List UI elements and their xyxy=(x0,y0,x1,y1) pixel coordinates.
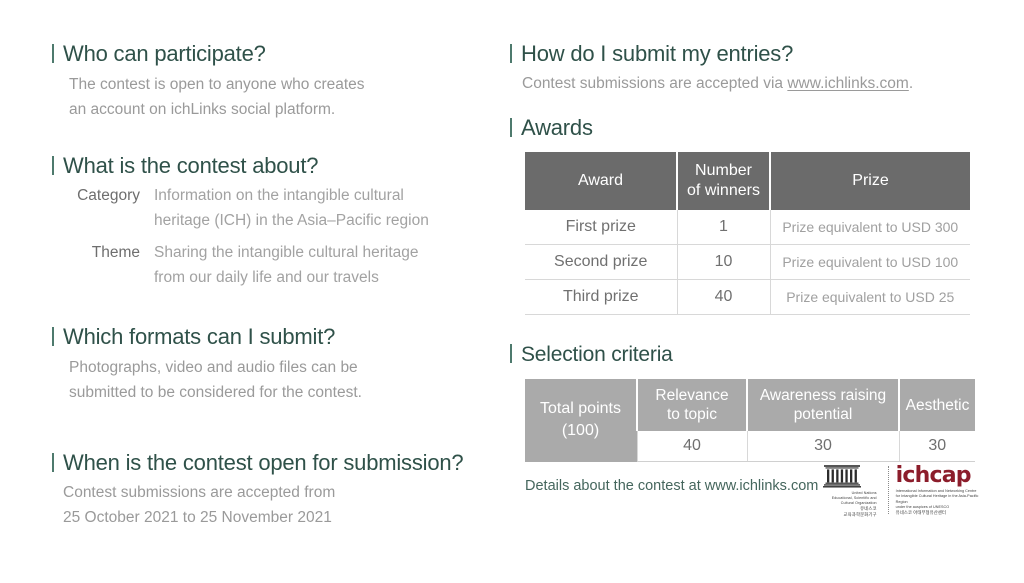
column-header-number-of-winners: Number of winners xyxy=(677,152,770,210)
column-header-aesthetic: Aesthetic xyxy=(899,379,975,431)
unesco-line-ko: 교육과학문화기구 xyxy=(808,512,877,518)
cell-prize: Prize equivalent to USD 25 xyxy=(770,280,970,315)
cell-prize: Prize equivalent to USD 300 xyxy=(770,210,970,245)
heading-accent-bar xyxy=(52,44,54,63)
submit-paragraph: Contest submissions are accepted via www… xyxy=(522,71,980,96)
heading-accent-bar xyxy=(510,44,512,63)
cell-award: First prize xyxy=(525,210,677,245)
section-paragraph: Contest submissions are accepted from 25… xyxy=(63,480,492,530)
cell-relevance-points: 40 xyxy=(637,431,747,462)
table-row: First prize 1 Prize equivalent to USD 30… xyxy=(525,210,970,245)
section-when-open-for-submission: When is the contest open for submission?… xyxy=(52,449,492,530)
awards-table: Award Number of winners Prize First priz… xyxy=(525,152,970,315)
heading-accent-bar xyxy=(52,156,54,175)
logo-divider xyxy=(888,466,889,514)
header-line: Aesthetic xyxy=(904,396,971,415)
cell-winners: 40 xyxy=(677,280,770,315)
column-header-prize: Prize xyxy=(770,152,970,210)
description-line: from our daily life and our travels xyxy=(154,265,419,290)
header-line: Number xyxy=(682,161,765,181)
paragraph-line: Contest submissions are accepted from xyxy=(63,480,492,505)
heading-text: How do I submit my entries? xyxy=(521,40,793,68)
paragraph-line: Photographs, video and audio files can b… xyxy=(69,355,492,380)
description-line: Sharing the intangible cultural heritage xyxy=(154,240,419,265)
section-heading: Selection criteria xyxy=(510,341,980,369)
heading-text: Awards xyxy=(521,114,593,142)
unesco-temple-icon xyxy=(822,463,862,489)
cell-awareness-points: 30 xyxy=(747,431,899,462)
paragraph-line: 25 October 2021 to 25 November 2021 xyxy=(63,505,492,530)
heading-accent-bar xyxy=(52,327,54,346)
heading-text: What is the contest about? xyxy=(63,152,318,180)
definition-row: Category Information on the intangible c… xyxy=(52,183,492,233)
header-line: to topic xyxy=(642,405,742,424)
ichcap-wordmark: ichcap xyxy=(896,464,980,487)
heading-accent-bar xyxy=(510,118,512,137)
section-what-is-the-contest-about: What is the contest about? Category Info… xyxy=(52,152,492,290)
section-heading: Awards xyxy=(510,114,980,142)
heading-accent-bar xyxy=(510,344,512,363)
description-line: heritage (ICH) in the Asia–Pacific regio… xyxy=(154,208,429,233)
total-points-value: (100) xyxy=(529,420,632,442)
paragraph-line: submitted to be considered for the conte… xyxy=(69,380,492,405)
slide-canvas: Who can participate? The contest is open… xyxy=(0,0,1024,583)
left-column: Who can participate? The contest is open… xyxy=(52,40,492,530)
section-heading: When is the contest open for submission? xyxy=(52,449,492,477)
section-which-formats: Which formats can I submit? Photographs,… xyxy=(52,323,492,405)
definition-list: Category Information on the intangible c… xyxy=(52,183,492,290)
section-paragraph: Photographs, video and audio files can b… xyxy=(69,355,492,405)
submit-text-before-link: Contest submissions are accepted via xyxy=(522,75,787,92)
header-line: Awareness raising xyxy=(752,386,894,405)
table-header-row: Total points (100) Relevance to topic Aw… xyxy=(525,379,975,431)
definition-description: Information on the intangible cultural h… xyxy=(154,183,429,233)
cell-award: Second prize xyxy=(525,245,677,280)
unesco-descriptor: United Nations Educational, Scientific a… xyxy=(808,491,877,518)
paragraph-line: an account on ichLinks social platform. xyxy=(69,97,492,122)
column-header-relevance-to-topic: Relevance to topic xyxy=(637,379,747,431)
table-header-row: Award Number of winners Prize xyxy=(525,152,970,210)
column-header-award: Award xyxy=(525,152,677,210)
heading-text: Who can participate? xyxy=(63,40,266,68)
cell-winners: 1 xyxy=(677,210,770,245)
heading-accent-bar xyxy=(52,453,54,472)
selection-criteria-table: Total points (100) Relevance to topic Aw… xyxy=(525,379,975,462)
definition-description: Sharing the intangible cultural heritage… xyxy=(154,240,419,290)
heading-text: When is the contest open for submission? xyxy=(63,449,463,477)
right-column: How do I submit my entries? Contest subm… xyxy=(510,40,980,496)
table-row: Third prize 40 Prize equivalent to USD 2… xyxy=(525,280,970,315)
section-heading: Which formats can I submit? xyxy=(52,323,492,351)
ichcap-descriptor: International Information and Networking… xyxy=(896,489,980,516)
cell-award: Third prize xyxy=(525,280,677,315)
cell-total-points: Total points (100) xyxy=(525,379,637,462)
section-paragraph: The contest is open to anyone who create… xyxy=(69,72,492,122)
unesco-logo: United Nations Educational, Scientific a… xyxy=(808,463,883,518)
section-heading: Who can participate? xyxy=(52,40,492,68)
cell-winners: 10 xyxy=(677,245,770,280)
paragraph-line: The contest is open to anyone who create… xyxy=(69,72,492,97)
logo-lockup: United Nations Educational, Scientific a… xyxy=(808,461,980,519)
definition-row: Theme Sharing the intangible cultural he… xyxy=(52,240,492,290)
cell-prize: Prize equivalent to USD 100 xyxy=(770,245,970,280)
ichcap-line-ko: 유네스코 아태무형유산센터 xyxy=(896,510,980,516)
section-awards: Awards Award Number of winners Prize xyxy=(510,114,980,315)
header-line: potential xyxy=(752,405,894,424)
section-heading: How do I submit my entries? xyxy=(510,40,980,68)
header-line: of winners xyxy=(682,181,765,201)
column-header-awareness-raising-potential: Awareness raising potential xyxy=(747,379,899,431)
definition-term: Category xyxy=(52,183,154,208)
ichcap-logo: ichcap International Information and Net… xyxy=(894,464,980,516)
ichlinks-link[interactable]: www.ichlinks.com xyxy=(787,75,908,92)
section-who-can-participate: Who can participate? The contest is open… xyxy=(52,40,492,122)
heading-text: Which formats can I submit? xyxy=(63,323,335,351)
submit-text-after-link: . xyxy=(909,75,913,92)
ichcap-line: for Intangible Cultural Heritage in the … xyxy=(896,494,980,504)
description-line: Information on the intangible cultural xyxy=(154,183,429,208)
definition-term: Theme xyxy=(52,240,154,265)
total-points-label: Total points xyxy=(529,398,632,420)
cell-aesthetic-points: 30 xyxy=(899,431,975,462)
heading-text: Selection criteria xyxy=(521,341,673,369)
table-row: Second prize 10 Prize equivalent to USD … xyxy=(525,245,970,280)
header-line: Relevance xyxy=(642,386,742,405)
section-heading: What is the contest about? xyxy=(52,152,492,180)
section-how-do-i-submit: How do I submit my entries? Contest subm… xyxy=(510,40,980,96)
